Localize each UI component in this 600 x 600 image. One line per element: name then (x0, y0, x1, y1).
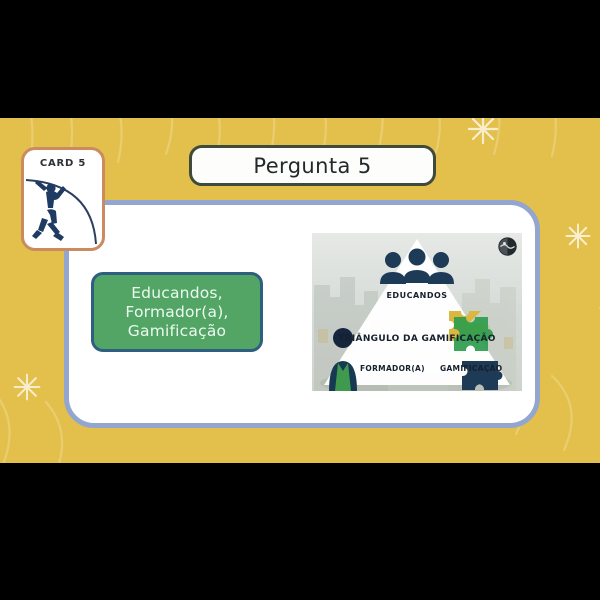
card-badge[interactable]: CARD 5 (21, 147, 105, 251)
card-badge-label: CARD 5 (24, 158, 102, 169)
diagram-label-gamificacao: GAMIFICAÇÃO (440, 364, 502, 373)
diagram-label-educandos: EDUCANDOS (312, 291, 522, 300)
diagram-label-formador: FORMADOR(A) (360, 364, 425, 373)
letterbox-top (0, 0, 600, 118)
slide-stage: Educandos, Formador(a), Gamificação (0, 0, 600, 600)
gamification-triangle-image: EDUCANDOS TRIÂNGULO DA GAMIFICAÇÃO FORMA… (312, 233, 522, 391)
answer-box[interactable]: Educandos, Formador(a), Gamificação (91, 272, 263, 352)
answer-line-2: Formador(a), (125, 303, 228, 322)
answer-line-1: Educandos, (131, 284, 223, 303)
page-title: Pergunta 5 (253, 154, 371, 178)
pole-vaulter-icon (24, 172, 105, 251)
answer-line-3: Gamificação (128, 322, 226, 341)
question-header: Pergunta 5 (189, 145, 436, 186)
letterbox-bottom (0, 463, 600, 600)
diagram-title: TRIÂNGULO DA GAMIFICAÇÃO (312, 334, 522, 344)
circular-logo-icon (497, 236, 518, 257)
